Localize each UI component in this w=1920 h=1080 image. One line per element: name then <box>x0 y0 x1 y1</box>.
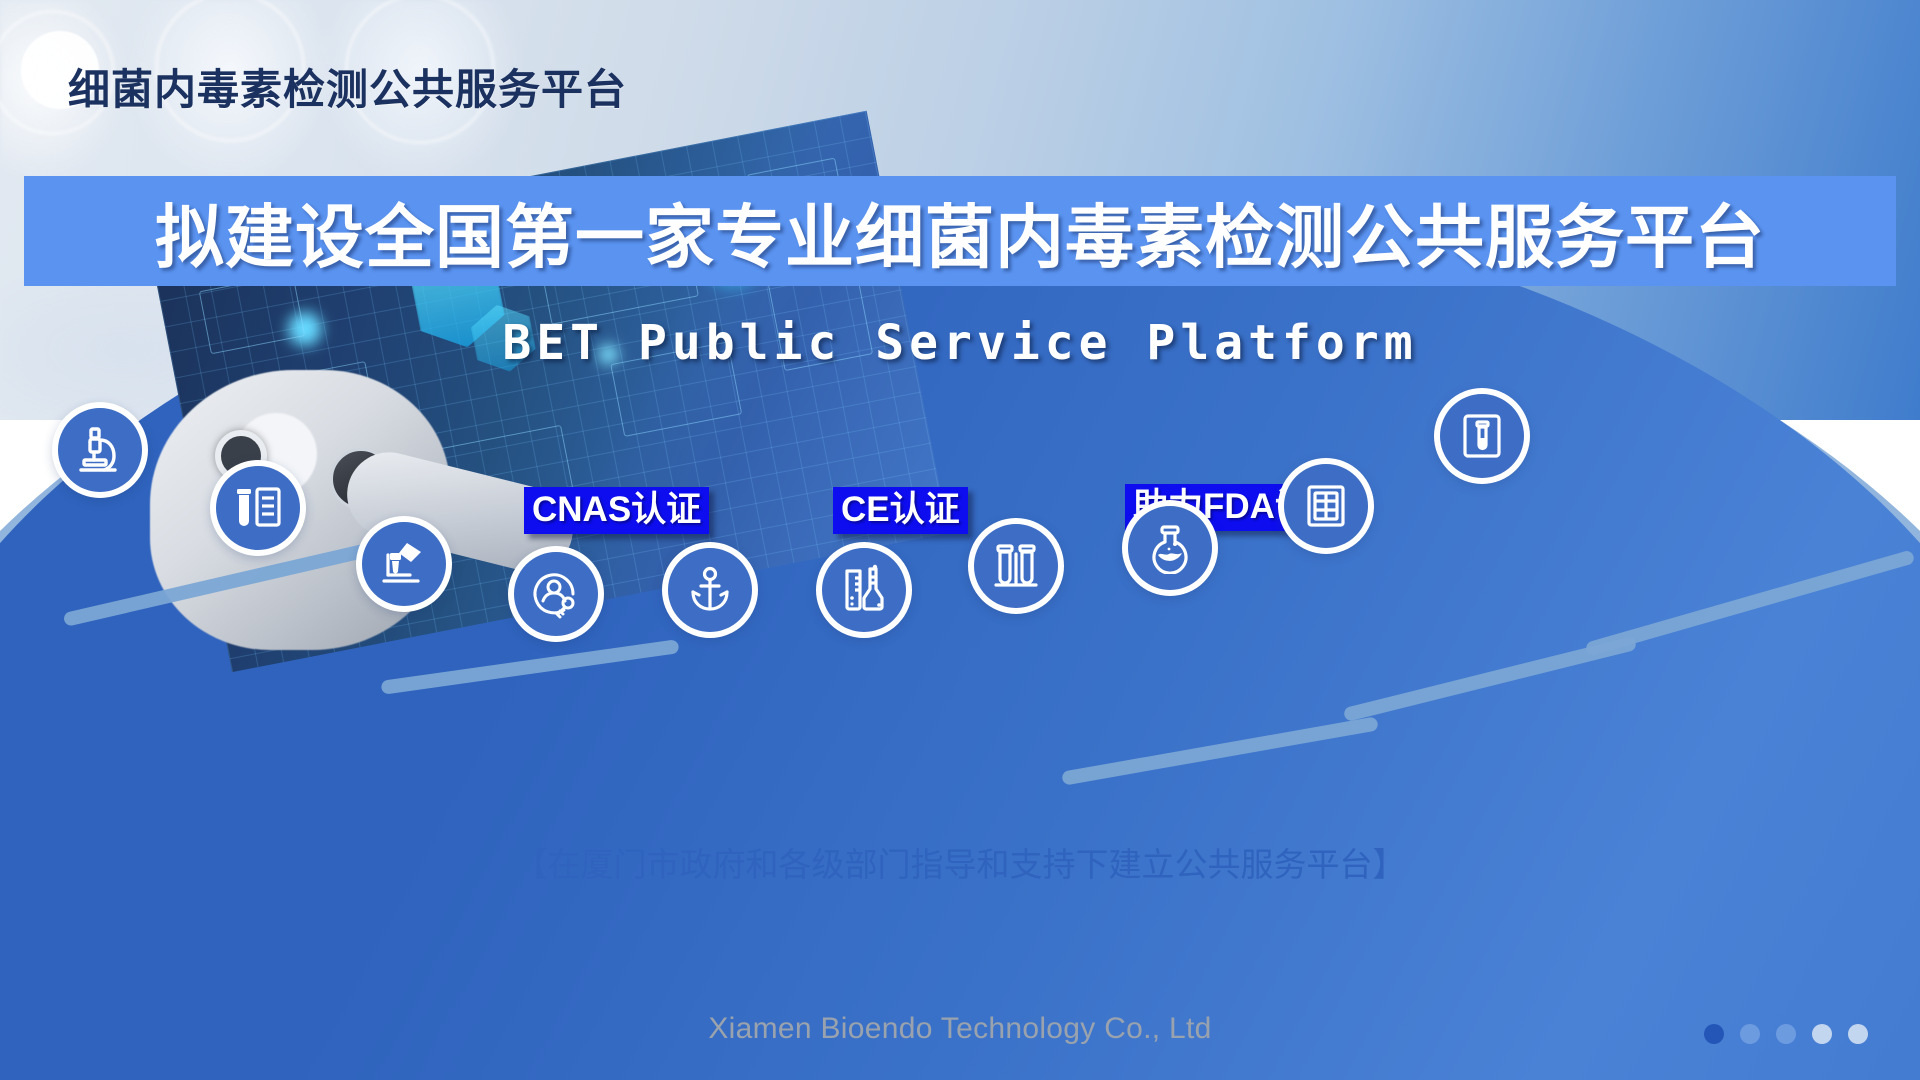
company-name: Xiamen Bioendo Technology Co., Ltd <box>0 1012 1920 1046</box>
pagination-dot-5[interactable] <box>1848 1024 1868 1044</box>
page-title: 细菌内毒素检测公共服务平台 <box>68 56 627 117</box>
circle-icon-microscope-document[interactable] <box>356 516 452 612</box>
circle-icon-microscope[interactable] <box>52 402 148 498</box>
pagination-dot-2[interactable] <box>1740 1024 1760 1044</box>
test-tube-rack-icon <box>989 539 1043 593</box>
microscope-icon <box>74 424 126 476</box>
circle-icon-user-key-access[interactable] <box>508 546 604 642</box>
pagination-dot-1[interactable] <box>1704 1024 1724 1044</box>
pagination-dots[interactable] <box>1704 1024 1868 1044</box>
microscope-document-icon <box>377 537 431 591</box>
circle-icon-test-tube-report[interactable] <box>210 460 306 556</box>
round-flask-icon <box>1144 522 1196 574</box>
subtitle-english: BET Public Service Platform <box>0 315 1920 371</box>
circle-icon-sample-vial[interactable] <box>1434 388 1530 484</box>
slide-root: 细菌内毒素检测公共服务平台 拟建设全国第一家专业细菌内毒素检测公共服务平台 BE… <box>0 0 1920 1080</box>
main-headline-text: 拟建设全国第一家专业细菌内毒素检测公共服务平台 <box>155 181 1765 281</box>
circle-icon-lab-report[interactable] <box>1278 458 1374 554</box>
lab-report-icon <box>1300 480 1352 532</box>
circle-icon-anchor[interactable] <box>662 542 758 638</box>
user-key-access-icon <box>529 567 583 621</box>
circle-icon-round-flask[interactable] <box>1122 500 1218 596</box>
anchor-icon <box>684 564 736 616</box>
beakers-icon <box>837 563 891 617</box>
badge-ce[interactable]: CE认证 <box>833 487 968 534</box>
sample-vial-icon <box>1457 411 1507 461</box>
footer-note: 【在厦门市政府和各级部门指导和支持下建立公共服务平台】 <box>0 838 1920 886</box>
badge-cnas[interactable]: CNAS认证 <box>524 487 709 534</box>
pagination-dot-3[interactable] <box>1776 1024 1796 1044</box>
test-tube-report-icon <box>231 481 285 535</box>
main-headline-banner: 拟建设全国第一家专业细菌内毒素检测公共服务平台 <box>24 176 1896 286</box>
circle-icon-test-tube-rack[interactable] <box>968 518 1064 614</box>
pagination-dot-4[interactable] <box>1812 1024 1832 1044</box>
circle-icon-beakers[interactable] <box>816 542 912 638</box>
